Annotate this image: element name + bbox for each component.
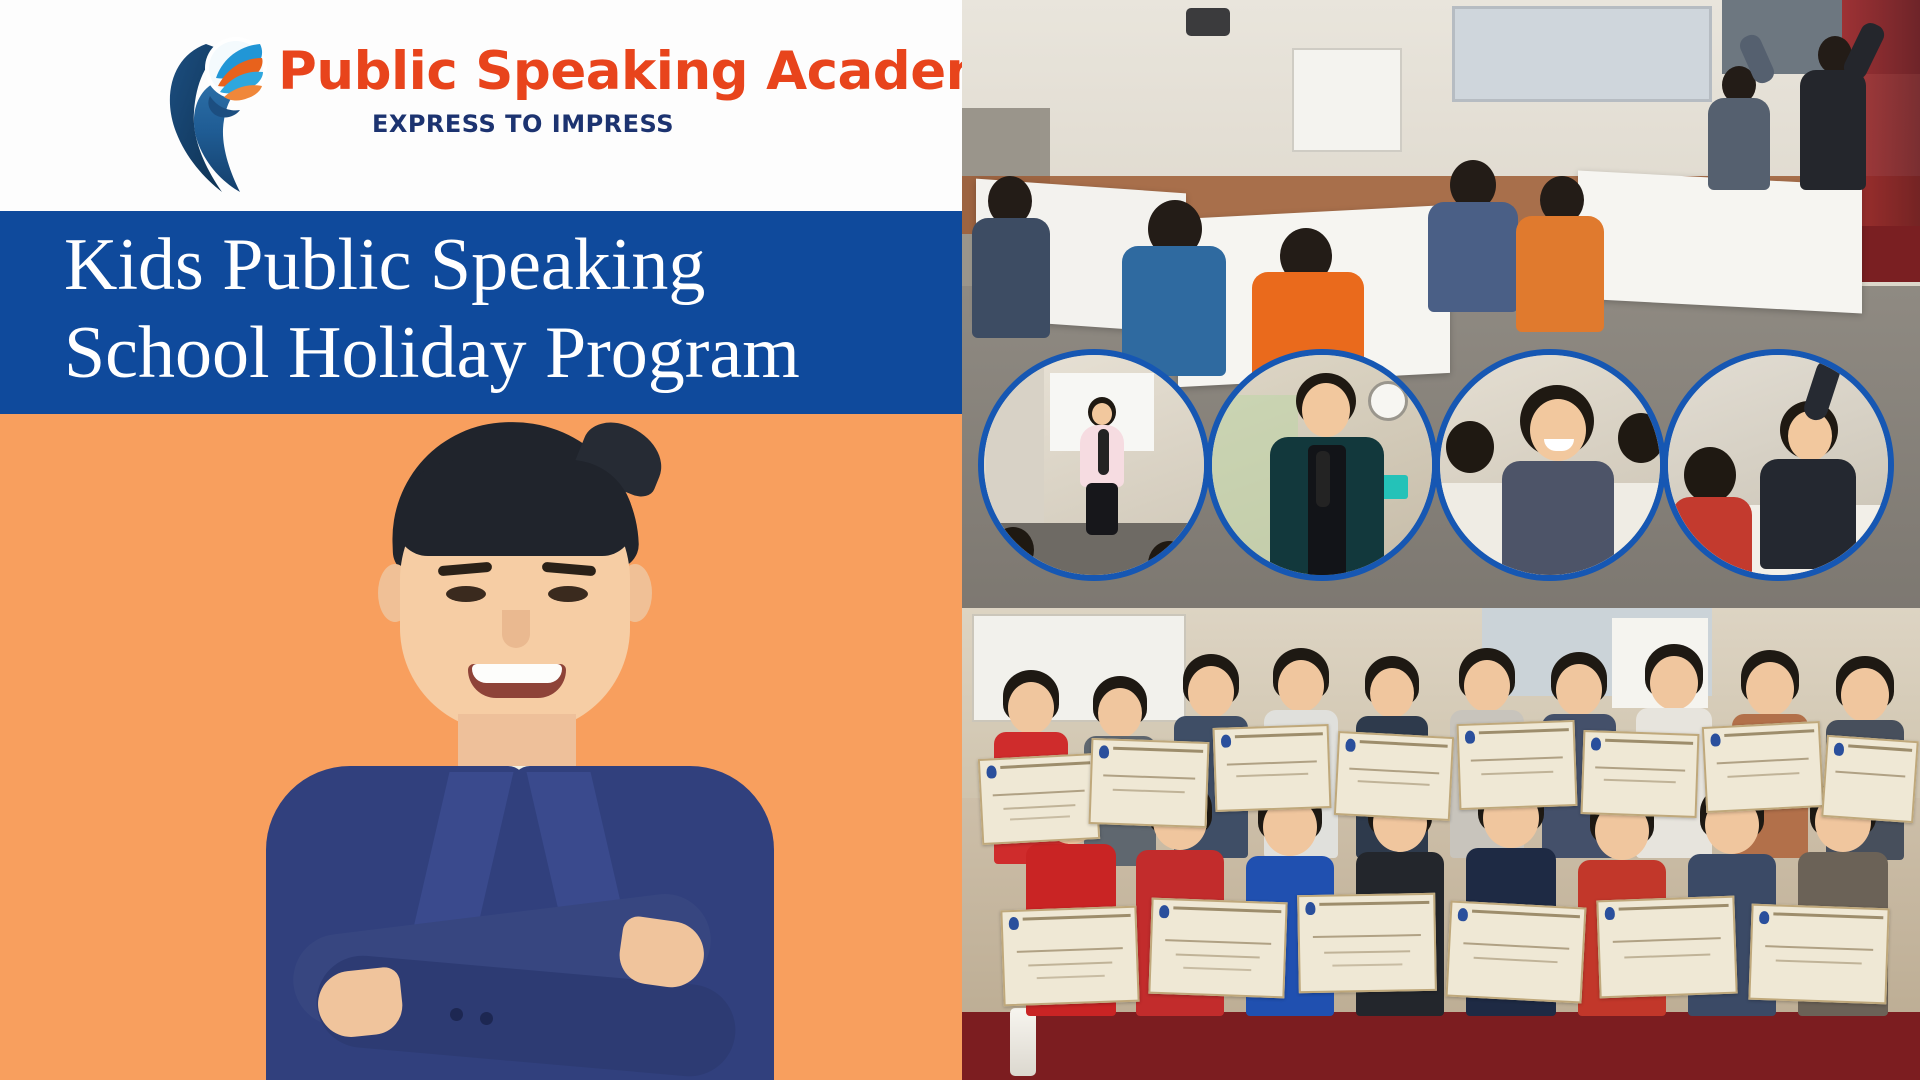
circle-3-other-head xyxy=(1618,413,1664,463)
certificate-text-line xyxy=(1175,954,1260,959)
certificate-text-line xyxy=(1349,767,1439,774)
certificate xyxy=(1213,724,1332,812)
certificate-logo-icon xyxy=(1305,902,1315,915)
certificate-logo-icon xyxy=(986,765,997,779)
certificate-logo-icon xyxy=(1458,908,1469,922)
presenter-eye-right xyxy=(548,586,588,602)
certificate xyxy=(1148,898,1287,999)
certificate-logo-icon xyxy=(1009,917,1019,930)
certificate xyxy=(1089,738,1210,828)
kid-head xyxy=(1464,660,1510,712)
certificate-title-line xyxy=(1113,747,1203,753)
certificate-logo-icon xyxy=(1710,733,1721,747)
kid-head xyxy=(1188,666,1234,718)
certificate-title-line xyxy=(1472,910,1580,919)
certificate-text-line xyxy=(1104,775,1195,780)
certificate-text-line xyxy=(1481,770,1554,775)
certificate xyxy=(1000,906,1139,1007)
circle-4-other-body xyxy=(1672,497,1752,581)
certificate-text-line xyxy=(1333,963,1403,966)
certificate xyxy=(1596,896,1737,999)
certificate-logo-icon xyxy=(1159,905,1169,918)
group-certificate-photo xyxy=(962,608,1920,1080)
certificate xyxy=(978,753,1100,845)
classroom-person-body xyxy=(1516,216,1604,332)
certificate-text-line xyxy=(1471,757,1562,762)
certificate-text-line xyxy=(1017,947,1123,953)
certificate-title-line xyxy=(1173,906,1281,913)
presenter-eye-left xyxy=(446,586,486,602)
presenter-fringe xyxy=(396,460,634,556)
presenter-mouth xyxy=(468,664,566,698)
kid-head xyxy=(1556,664,1602,716)
kid-head xyxy=(1008,682,1054,734)
certificate-title-line xyxy=(1319,901,1429,906)
presenter-nose xyxy=(502,610,530,648)
speaker-figure-globe-logo-icon xyxy=(160,26,278,193)
brand-logo: Public Speaking Academy EXPRESS TO IMPRE… xyxy=(160,18,800,193)
certificate xyxy=(1821,735,1918,823)
kid-head xyxy=(1370,668,1414,718)
brand-text: Public Speaking Academy EXPRESS TO IMPRE… xyxy=(278,44,798,138)
kid-head xyxy=(1278,660,1324,712)
certificate-text-line xyxy=(1766,945,1873,951)
circle-photo-3 xyxy=(1434,349,1666,581)
title-line-2: School Holiday Program xyxy=(64,309,954,397)
presenter-jacket-button-1 xyxy=(450,1008,463,1021)
hero-area xyxy=(0,414,962,1080)
certificate-text-line xyxy=(1236,773,1308,778)
certificate xyxy=(1446,901,1587,1004)
certificate-title-line xyxy=(1848,744,1912,751)
certificate-title-line xyxy=(1235,732,1323,738)
brand-tagline: EXPRESS TO IMPRESS xyxy=(278,110,768,138)
certificate-text-line xyxy=(1613,938,1720,944)
circle-3-other-head xyxy=(1446,421,1494,473)
certificate-title-line xyxy=(1605,739,1693,745)
kid-head xyxy=(1650,656,1698,710)
presenter-teeth xyxy=(472,664,562,683)
certificate-text-line xyxy=(1727,772,1800,778)
certificate-text-line xyxy=(1003,804,1076,810)
circle-photo-2 xyxy=(1206,349,1438,581)
certificate-title-line xyxy=(1724,729,1814,737)
title-line-1: Kids Public Speaking xyxy=(64,221,954,309)
certificate-text-line xyxy=(1036,975,1105,979)
kid-head xyxy=(1098,688,1142,738)
certificate-logo-icon xyxy=(1465,730,1475,743)
certificate-text-line xyxy=(1624,953,1710,958)
circle-4-other-head xyxy=(1684,447,1736,503)
certificate-text-line xyxy=(993,790,1084,797)
circle-3-student-body xyxy=(1502,461,1614,581)
certificate xyxy=(1702,721,1824,813)
classroom-table-3 xyxy=(1578,171,1862,314)
circle-1-audience-head xyxy=(992,527,1034,573)
poster-canvas: Public Speaking Academy EXPRESS TO IMPRE… xyxy=(0,0,1920,1080)
logo-header: Public Speaking Academy EXPRESS TO IMPRE… xyxy=(0,0,962,211)
certificate-logo-icon xyxy=(1834,742,1845,756)
left-panel: Public Speaking Academy EXPRESS TO IMPRE… xyxy=(0,0,962,1080)
certificate-text-line xyxy=(1473,957,1557,963)
circle-1-speaker-trousers xyxy=(1086,483,1118,535)
certificate-text-line xyxy=(1010,815,1069,820)
certificate-logo-icon xyxy=(1099,745,1109,758)
certificate xyxy=(1334,731,1454,821)
certificate-text-line xyxy=(1835,770,1905,777)
certificate xyxy=(1457,720,1578,810)
certificate-logo-icon xyxy=(1605,907,1615,920)
certificate-logo-icon xyxy=(1759,911,1769,924)
certificate-title-line xyxy=(1023,914,1131,921)
certificate-title-line xyxy=(1479,728,1569,734)
certificate-title-line xyxy=(1773,912,1883,919)
certificate-text-line xyxy=(1604,779,1676,784)
classroom-projector-screen xyxy=(1452,6,1712,102)
certificate-text-line xyxy=(1324,950,1410,953)
classroom-person-body xyxy=(972,218,1050,338)
right-panel xyxy=(962,0,1920,1080)
classroom-flipchart xyxy=(1292,48,1402,152)
kid-head xyxy=(1841,668,1889,722)
certificate-title-line xyxy=(1360,740,1448,748)
circle-3-student-face xyxy=(1530,399,1586,461)
certificate-text-line xyxy=(1112,788,1185,793)
classroom-student-body xyxy=(1708,98,1770,190)
circle-photo-row xyxy=(962,349,1920,589)
brand-name: Public Speaking Academy xyxy=(278,44,798,100)
kid-head xyxy=(1746,662,1794,716)
certificate-text-line xyxy=(1464,942,1570,950)
circle-photo-4 xyxy=(1662,349,1894,581)
certificate-text-line xyxy=(1165,939,1271,945)
circle-2-microphone-icon xyxy=(1316,451,1330,507)
page-title: Kids Public Speaking School Holiday Prog… xyxy=(64,221,954,397)
certificate-text-line xyxy=(1183,967,1252,971)
presenter-jacket-button-2 xyxy=(480,1012,493,1025)
certificate-text-line xyxy=(1227,760,1317,765)
certificate-text-line xyxy=(1028,962,1113,967)
circle-4-student-body xyxy=(1760,459,1856,569)
circle-1-speaker-face xyxy=(1092,403,1112,425)
certificate-logo-icon xyxy=(1591,737,1601,750)
certificate xyxy=(1581,730,1700,818)
certificate-logo-icon xyxy=(1345,738,1356,752)
certificate-text-line xyxy=(1776,960,1862,965)
classroom-projector xyxy=(1186,8,1230,36)
group-photo-floor xyxy=(962,1012,1920,1080)
certificate xyxy=(1297,893,1437,993)
presenter-photo xyxy=(150,414,820,1080)
classroom-person-body xyxy=(1428,202,1518,312)
clock-icon xyxy=(1368,381,1408,421)
certificate-text-line xyxy=(1717,758,1808,765)
certificate-title-line xyxy=(1000,761,1090,769)
certificate xyxy=(1748,904,1889,1005)
circle-photo-1 xyxy=(978,349,1210,581)
certificate-text-line xyxy=(1313,935,1420,939)
certificate-logo-icon xyxy=(1221,734,1231,747)
certificate-title-line xyxy=(1619,904,1729,911)
circle-1-audience-head xyxy=(1148,541,1190,581)
certificate-text-line xyxy=(1595,766,1685,771)
water-bottle xyxy=(1010,1008,1036,1076)
circle-1-microphone-icon xyxy=(1098,429,1109,475)
title-banner: Kids Public Speaking School Holiday Prog… xyxy=(0,211,962,414)
classroom-trainer-body xyxy=(1800,70,1866,190)
certificate-text-line xyxy=(1358,781,1430,787)
circle-2-speaker-face xyxy=(1302,383,1350,437)
